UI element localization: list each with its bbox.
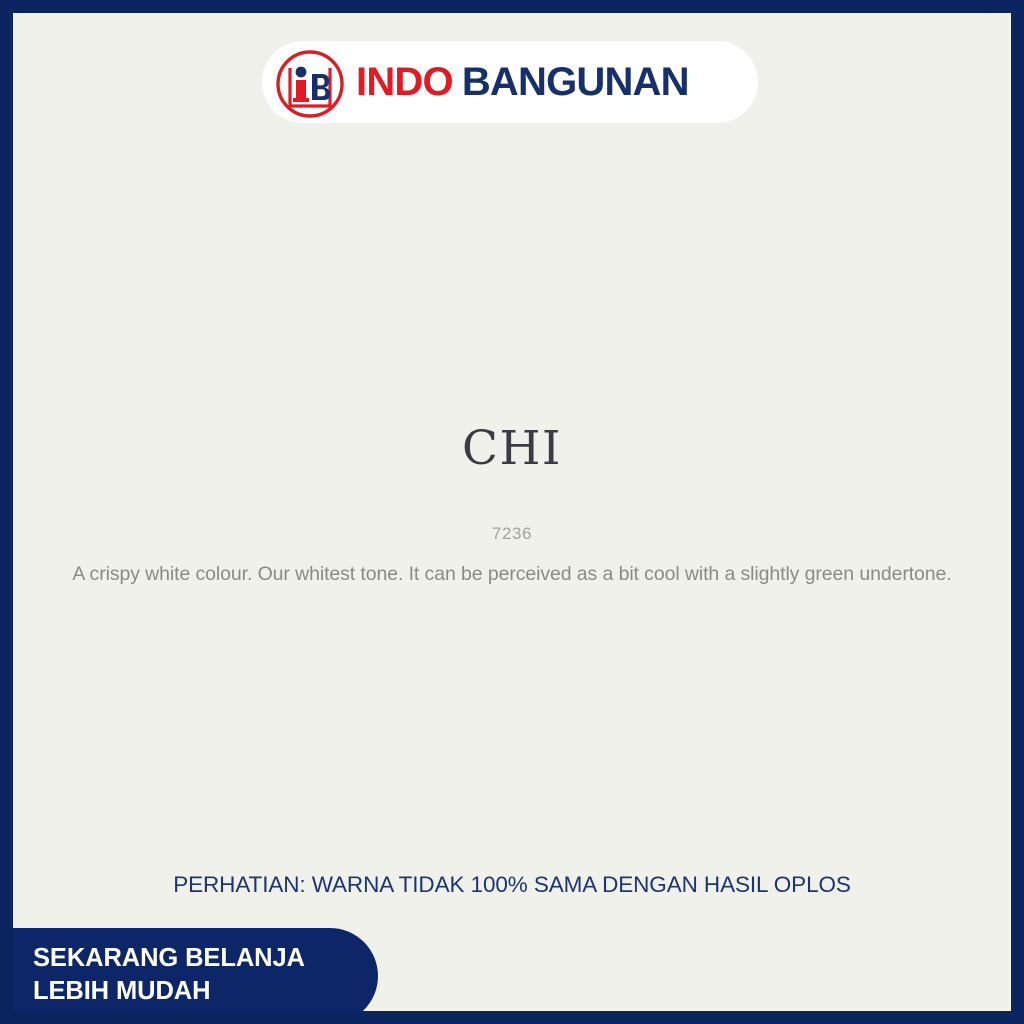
wordmark-indo: INDO [356, 62, 453, 102]
product-color-card: INDO BANGUNAN CHI 7236 A crispy white co… [0, 0, 1024, 1024]
promo-line-1: SEKARANG BELANJA [33, 942, 378, 975]
color-accuracy-warning: PERHATIAN: WARNA TIDAK 100% SAMA DENGAN … [13, 871, 1011, 898]
brand-wordmark: INDO BANGUNAN [356, 62, 689, 102]
promo-banner: SEKARANG BELANJA LEBIH MUDAH [13, 928, 378, 1011]
color-code: 7236 [13, 525, 1011, 542]
card-surface: INDO BANGUNAN CHI 7236 A crispy white co… [13, 13, 1011, 1011]
ib-emblem-icon [274, 48, 346, 120]
promo-line-2: LEBIH MUDAH [33, 975, 378, 1008]
wordmark-bangunan: BANGUNAN [462, 62, 689, 102]
color-name: CHI [13, 425, 1011, 472]
brand-logo-pill: INDO BANGUNAN [262, 41, 758, 123]
color-description: A crispy white colour. Our whitest tone.… [13, 563, 1011, 586]
